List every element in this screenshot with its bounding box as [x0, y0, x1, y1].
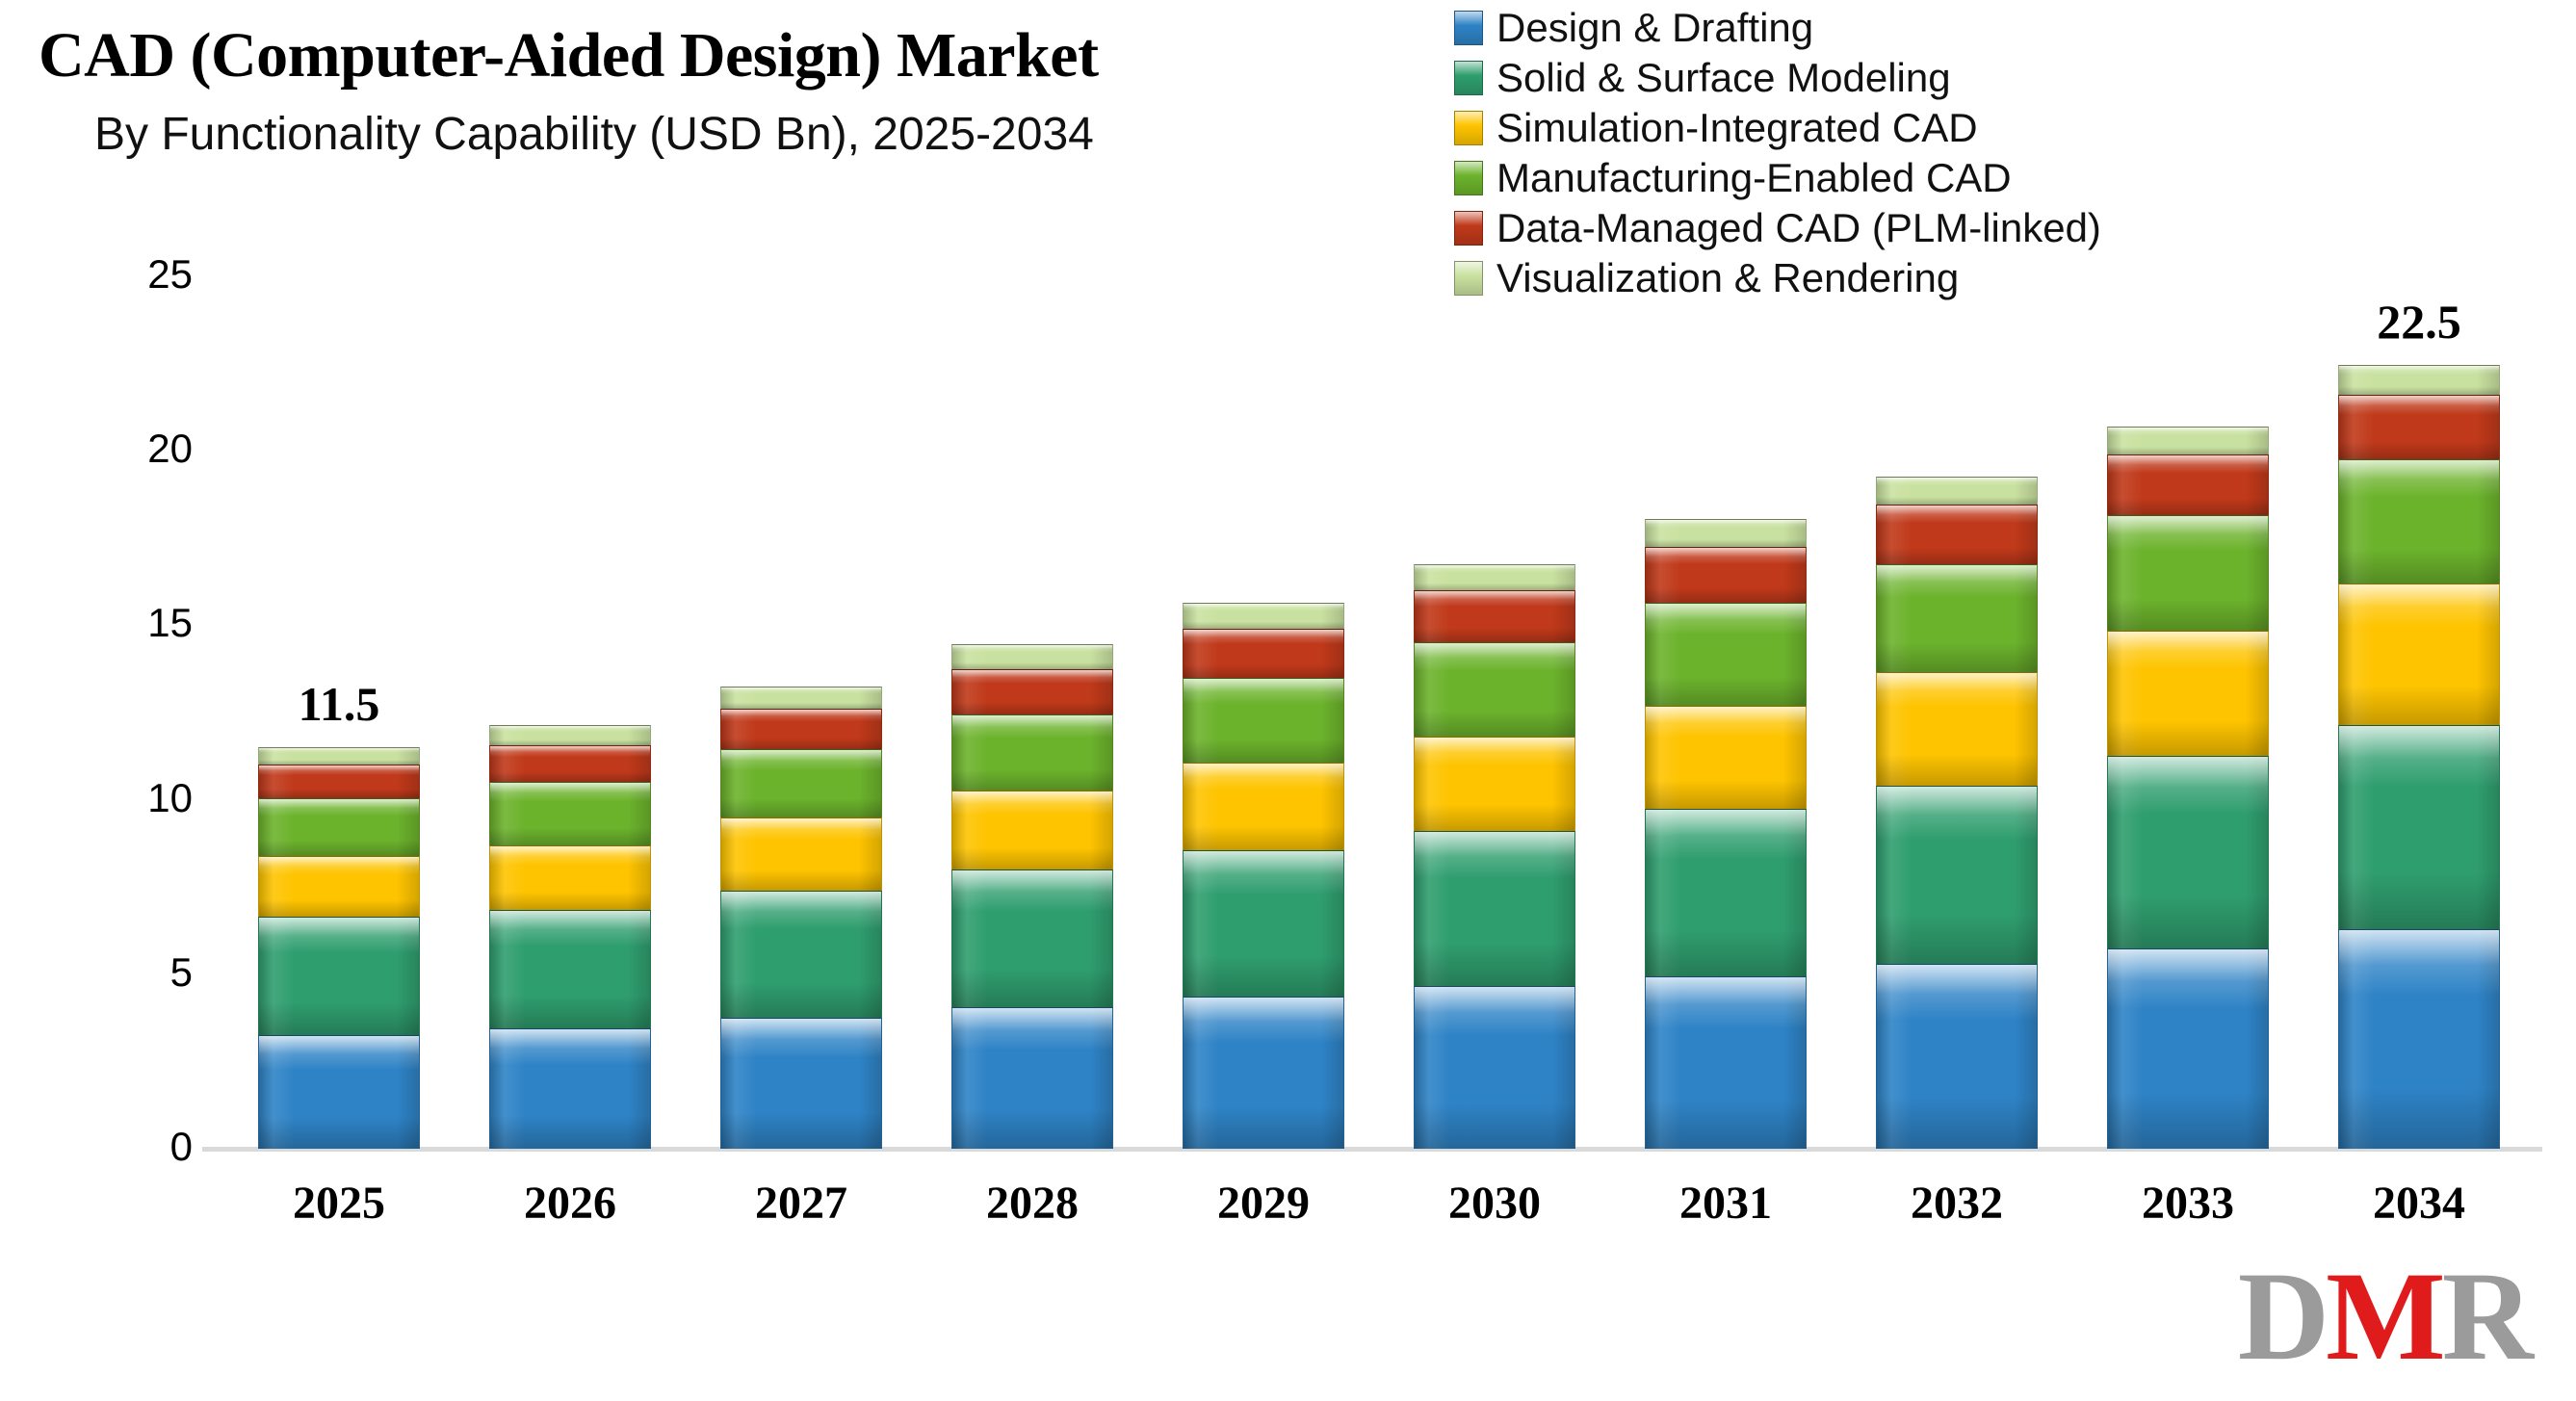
bar-segment[interactable]	[1183, 678, 1344, 764]
y-axis-tick-label: 5	[77, 949, 193, 996]
bar-segment[interactable]	[258, 747, 420, 765]
stacked-bar[interactable]	[1876, 477, 2038, 1149]
bar-segment[interactable]	[1414, 564, 1575, 590]
plot-area: 0510152025 11.52025202620272028202920302…	[0, 0, 2576, 1401]
watermark-letter-d: D	[2238, 1245, 2326, 1387]
bar-segment[interactable]	[720, 817, 882, 891]
bar-segment[interactable]	[489, 1028, 651, 1149]
bar-segment[interactable]	[1645, 603, 1807, 706]
bar-segment[interactable]	[258, 917, 420, 1035]
bar-segment[interactable]	[489, 745, 651, 782]
bar-segment[interactable]	[720, 709, 882, 749]
bar-segment[interactable]	[1183, 603, 1344, 629]
bar-segment[interactable]	[1183, 997, 1344, 1149]
dmr-watermark-logo: DMR	[2238, 1253, 2530, 1380]
bar-segment[interactable]	[489, 845, 651, 910]
bar-segment[interactable]	[1876, 964, 2038, 1149]
bar-segment[interactable]	[258, 798, 420, 856]
bar-segment[interactable]	[1183, 629, 1344, 678]
y-axis-tick-label: 15	[77, 600, 193, 646]
y-axis-tick-label: 25	[77, 251, 193, 298]
bar-segment[interactable]	[2338, 459, 2500, 584]
watermark-letter-m: M	[2326, 1245, 2442, 1387]
x-axis-tick-label: 2027	[695, 1177, 907, 1230]
watermark-letter-r: R	[2442, 1245, 2530, 1387]
bar-segment[interactable]	[489, 782, 651, 844]
bar-segment[interactable]	[1876, 672, 2038, 786]
bar-segment[interactable]	[1876, 564, 2038, 672]
bar-segment[interactable]	[2107, 427, 2269, 454]
x-axis-tick-label: 2026	[464, 1177, 676, 1230]
bar-segment[interactable]	[951, 791, 1113, 869]
bar-segment[interactable]	[1414, 642, 1575, 737]
y-axis-tick-label: 0	[77, 1124, 193, 1170]
bar-segment[interactable]	[2338, 725, 2500, 929]
bar-segment[interactable]	[1876, 786, 2038, 964]
stacked-bar[interactable]	[1183, 603, 1344, 1149]
bar-segment[interactable]	[1876, 505, 2038, 564]
x-axis-tick-label: 2031	[1620, 1177, 1832, 1230]
x-axis-tick-label: 2034	[2313, 1177, 2525, 1230]
bar-segment[interactable]	[2338, 395, 2500, 459]
x-axis-tick-label: 2030	[1389, 1177, 1600, 1230]
bar-segment[interactable]	[951, 644, 1113, 668]
bar-segment[interactable]	[1414, 590, 1575, 642]
bar-segment[interactable]	[2338, 929, 2500, 1149]
bar-segment[interactable]	[1414, 986, 1575, 1149]
y-axis: 0510152025	[39, 0, 193, 1401]
stacked-bar[interactable]	[1645, 519, 1807, 1149]
stacked-bar[interactable]	[1414, 564, 1575, 1149]
bar-segment[interactable]	[951, 869, 1113, 1007]
bar-segment[interactable]	[489, 910, 651, 1028]
bar-total-label: 11.5	[299, 676, 380, 732]
x-axis-tick-label: 2033	[2082, 1177, 2294, 1230]
bar-segment[interactable]	[1183, 763, 1344, 850]
bar-segment[interactable]	[1645, 809, 1807, 976]
bar-segment[interactable]	[1645, 547, 1807, 603]
bar-segment[interactable]	[720, 749, 882, 817]
bar-segment[interactable]	[1414, 737, 1575, 831]
stacked-bar[interactable]	[2338, 365, 2500, 1149]
stacked-bar[interactable]	[489, 725, 651, 1149]
stacked-bar[interactable]	[720, 687, 882, 1149]
bar-segment[interactable]	[1876, 477, 2038, 505]
bar-total-label: 22.5	[2377, 294, 2461, 350]
bar-segment[interactable]	[1645, 706, 1807, 809]
bar-segment[interactable]	[2107, 515, 2269, 631]
x-axis-tick-label: 2028	[926, 1177, 1138, 1230]
stacked-bar[interactable]	[2107, 427, 2269, 1149]
x-axis-tick-label: 2029	[1158, 1177, 1369, 1230]
bar-segment[interactable]	[489, 725, 651, 746]
bar-segment[interactable]	[1414, 831, 1575, 986]
stacked-bar[interactable]	[951, 644, 1113, 1149]
bar-segment[interactable]	[2107, 454, 2269, 515]
bar-segment[interactable]	[258, 765, 420, 797]
y-axis-tick-label: 20	[77, 426, 193, 472]
bar-segment[interactable]	[2107, 756, 2269, 947]
bar-segment[interactable]	[951, 669, 1113, 714]
chart-root: CAD (Computer-Aided Design) Market By Fu…	[0, 0, 2576, 1401]
bar-segment[interactable]	[1645, 519, 1807, 547]
bar-segment[interactable]	[1645, 976, 1807, 1149]
x-axis-tick-label: 2025	[233, 1177, 445, 1230]
bar-segment[interactable]	[2338, 584, 2500, 725]
x-axis-tick-label: 2032	[1851, 1177, 2063, 1230]
bar-segment[interactable]	[2107, 631, 2269, 757]
bar-segment[interactable]	[720, 891, 882, 1018]
bar-segment[interactable]	[2107, 948, 2269, 1149]
bar-segment[interactable]	[1183, 850, 1344, 997]
bar-segment[interactable]	[951, 1007, 1113, 1149]
bar-segment[interactable]	[720, 1018, 882, 1149]
y-axis-tick-label: 10	[77, 775, 193, 821]
bar-segment[interactable]	[951, 714, 1113, 791]
bar-segment[interactable]	[2338, 365, 2500, 395]
stacked-bar[interactable]	[258, 747, 420, 1149]
bar-segment[interactable]	[720, 687, 882, 710]
bar-segment[interactable]	[258, 1035, 420, 1149]
bar-segment[interactable]	[258, 856, 420, 917]
